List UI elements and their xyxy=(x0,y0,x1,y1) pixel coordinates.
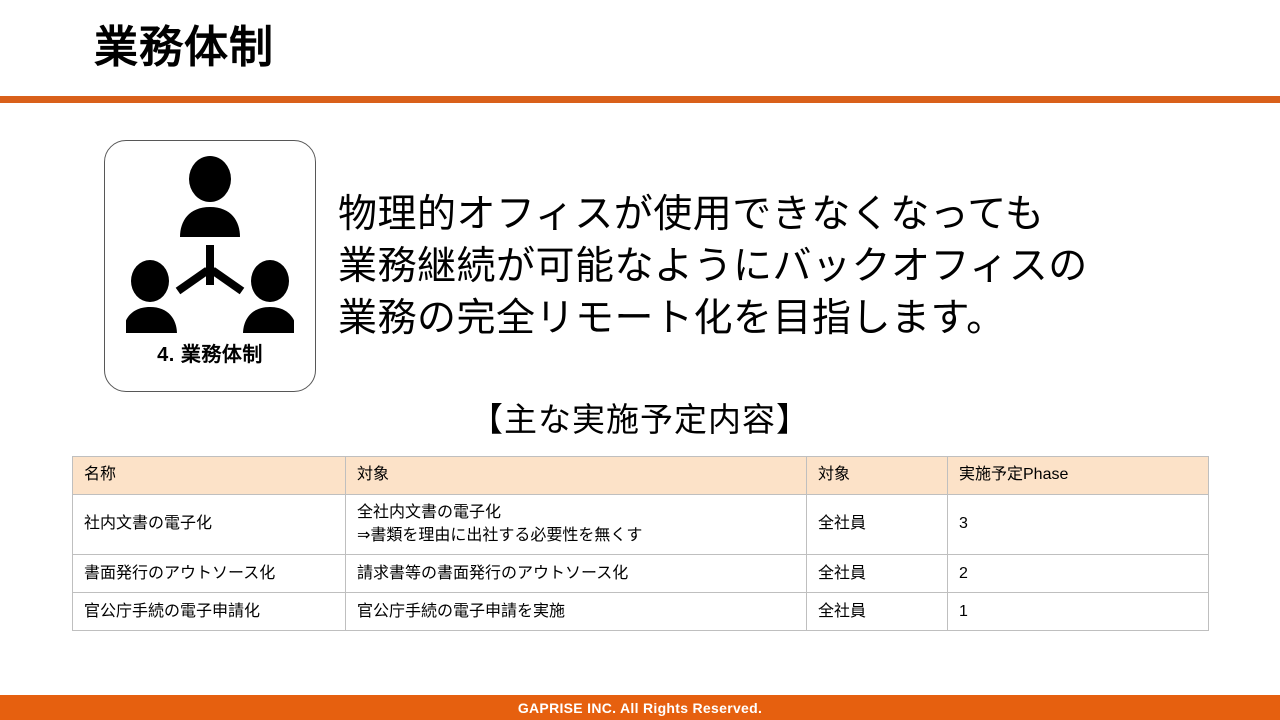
cell-phase: 1 xyxy=(948,593,1209,631)
lead-line-2: 業務継続が可能なようにバックオフィスの xyxy=(338,241,1218,293)
cell-target: 官公庁手続の電子申請を実施 xyxy=(346,593,807,631)
cell-phase: 3 xyxy=(948,495,1209,555)
cell-scope: 全社員 xyxy=(807,555,948,593)
cell-name: 社内文書の電子化 xyxy=(73,495,346,555)
cell-scope: 全社員 xyxy=(807,495,948,555)
icon-card: 4. 業務体制 xyxy=(104,140,316,392)
title-divider-rule xyxy=(0,96,1280,103)
cell-name: 書面発行のアウトソース化 xyxy=(73,555,346,593)
table-row: 官公庁手続の電子申請化 官公庁手続の電子申請を実施 全社員 1 xyxy=(73,593,1209,631)
table-header-row: 名称 対象 対象 実施予定Phase xyxy=(73,457,1209,495)
icon-card-caption: 4. 業務体制 xyxy=(105,338,315,367)
cell-scope: 全社員 xyxy=(807,593,948,631)
column-header-scope: 対象 xyxy=(807,457,948,495)
column-header-name: 名称 xyxy=(73,457,346,495)
footer-copyright: GAPRISE INC. All Rights Reserved. xyxy=(518,701,762,715)
lead-paragraph: 物理的オフィスが使用できなくなっても 業務継続が可能なようにバックオフィスの 業… xyxy=(338,189,1218,345)
table-body: 社内文書の電子化 全社内文書の電子化 ⇒書類を理由に出社する必要性を無くす 全社… xyxy=(73,495,1209,631)
column-header-target: 対象 xyxy=(346,457,807,495)
table-row: 書面発行のアウトソース化 請求書等の書面発行のアウトソース化 全社員 2 xyxy=(73,555,1209,593)
implementation-plan-table: 名称 対象 対象 実施予定Phase 社内文書の電子化 全社内文書の電子化 ⇒書… xyxy=(72,456,1209,631)
column-header-phase: 実施予定Phase xyxy=(948,457,1209,495)
organization-chart-people-icon xyxy=(126,155,294,333)
cell-phase: 2 xyxy=(948,555,1209,593)
cell-name: 官公庁手続の電子申請化 xyxy=(73,593,346,631)
slide-canvas: 業務体制 4. 業務体制 物理的オフィスが使用できなくなっても 業務継続が可能な… xyxy=(0,0,1280,720)
cell-target: 全社内文書の電子化 ⇒書類を理由に出社する必要性を無くす xyxy=(346,495,807,555)
section-heading: 【主な実施予定内容】 xyxy=(72,400,1208,440)
lead-line-1: 物理的オフィスが使用できなくなっても xyxy=(338,189,1218,241)
page-title: 業務体制 xyxy=(94,24,274,72)
table-row: 社内文書の電子化 全社内文書の電子化 ⇒書類を理由に出社する必要性を無くす 全社… xyxy=(73,495,1209,555)
lead-line-3: 業務の完全リモート化を目指します。 xyxy=(338,293,1218,345)
cell-target: 請求書等の書面発行のアウトソース化 xyxy=(346,555,807,593)
table-header: 名称 対象 対象 実施予定Phase xyxy=(73,457,1209,495)
footer-bar: GAPRISE INC. All Rights Reserved. xyxy=(0,695,1280,720)
